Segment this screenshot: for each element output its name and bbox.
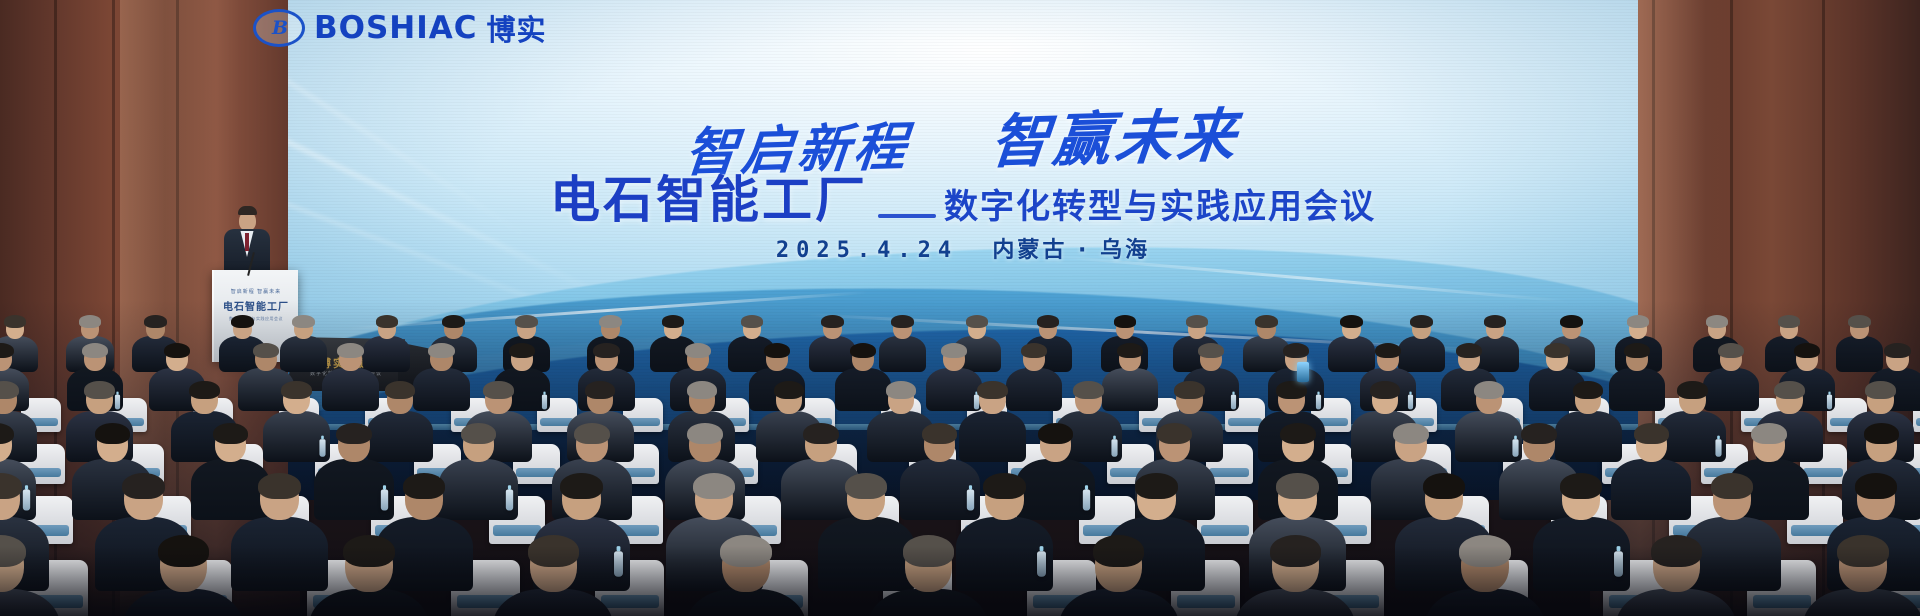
audience-head xyxy=(260,476,298,520)
audience-hair xyxy=(1711,473,1753,499)
audience-hair xyxy=(231,315,254,328)
audience-hair xyxy=(741,315,764,328)
water-bottle xyxy=(542,395,547,410)
audience-hair xyxy=(1560,473,1602,499)
screen-main-title: 电石智能工厂 xyxy=(550,160,868,232)
audience-head xyxy=(1200,346,1222,371)
audience-head xyxy=(847,476,885,520)
audience-hair xyxy=(1474,381,1504,399)
audience-head xyxy=(1780,318,1799,339)
audience-head xyxy=(1425,476,1463,520)
audience-hair xyxy=(983,473,1025,499)
audience-head xyxy=(1176,384,1202,414)
audience-hair xyxy=(764,343,790,358)
audience-hair xyxy=(1778,315,1801,328)
audience-head xyxy=(0,384,17,414)
audience-hair xyxy=(1157,423,1193,444)
podium-line-1: 智启新程 智赢未来 xyxy=(214,288,298,295)
audience-head xyxy=(1886,346,1908,371)
audience-head xyxy=(664,318,683,339)
audience-hair xyxy=(82,343,108,358)
logo-chinese-text: 博实 xyxy=(487,7,547,49)
audience-head xyxy=(766,346,788,371)
audience-hair xyxy=(1718,343,1744,358)
audience-head xyxy=(1546,346,1568,371)
audience-hair xyxy=(84,381,114,399)
audience-hair xyxy=(0,473,22,499)
audience-head xyxy=(146,318,165,339)
audience-head xyxy=(405,476,443,520)
audience-hair xyxy=(1393,423,1429,444)
audience-head xyxy=(1116,318,1135,339)
audience-head xyxy=(81,318,100,339)
audience-head xyxy=(1626,346,1648,371)
audience-head xyxy=(1075,384,1101,414)
audience-hair xyxy=(1021,343,1047,358)
audience-head xyxy=(562,476,600,520)
audience-head xyxy=(84,346,106,371)
audience-hair xyxy=(1677,381,1707,399)
audience-hair xyxy=(687,381,717,399)
audience-head xyxy=(97,426,129,462)
audience-hair xyxy=(336,423,372,444)
audience-head xyxy=(1342,318,1361,339)
audience-hair xyxy=(685,343,711,358)
audience-hair xyxy=(821,315,844,328)
audience-hair xyxy=(4,315,27,328)
audience-head xyxy=(1796,346,1818,371)
audience-hair xyxy=(1544,343,1570,358)
audience-head xyxy=(979,384,1005,414)
conference-photo: 智启新程 智赢未来 电石智能工厂 数字化转型与实践应用会议 2025.4.24 … xyxy=(0,0,1920,616)
speaker-hair xyxy=(238,206,257,215)
audience-head xyxy=(805,426,837,462)
audience-hair xyxy=(79,315,102,328)
audience-hair xyxy=(1794,343,1820,358)
audience-head xyxy=(985,476,1023,520)
audience-head xyxy=(1395,426,1427,462)
audience-head xyxy=(1486,318,1505,339)
audience-head xyxy=(1476,384,1502,414)
audience-hair xyxy=(687,423,723,444)
audience-hair xyxy=(1073,381,1103,399)
audience-head xyxy=(689,426,721,462)
audience-head xyxy=(1282,426,1314,462)
audience-head xyxy=(1257,318,1276,339)
audience-head xyxy=(823,318,842,339)
audience-head xyxy=(6,318,25,339)
audience-hair xyxy=(385,381,415,399)
audience-head xyxy=(191,384,217,414)
screen-date-row: 2025.4.24 内蒙古 · 乌海 xyxy=(288,232,1638,264)
audience-head xyxy=(743,318,762,339)
audience-head xyxy=(430,346,452,371)
audience-hair xyxy=(1456,343,1482,358)
audience-head xyxy=(1040,426,1072,462)
audience-head xyxy=(1562,318,1581,339)
audience-hair xyxy=(1624,343,1650,358)
audience-hair xyxy=(337,343,363,358)
water-bottle xyxy=(1112,439,1118,457)
audience-head xyxy=(1857,476,1895,520)
water-bottle xyxy=(1716,439,1722,457)
audience-hair xyxy=(1706,315,1729,328)
audience-hair xyxy=(1135,473,1177,499)
audience-head xyxy=(1039,318,1058,339)
audience-head xyxy=(1412,318,1431,339)
audience-hair xyxy=(922,423,958,444)
audience-head xyxy=(776,384,802,414)
audience-hair xyxy=(428,343,454,358)
attendee-phone xyxy=(1297,362,1309,382)
audience-hair xyxy=(1117,343,1143,358)
speaker-person xyxy=(224,206,270,277)
audience-head xyxy=(1523,426,1555,462)
audience-hair xyxy=(1038,423,1074,444)
audience-hair xyxy=(515,315,538,328)
audience-hair xyxy=(281,381,311,399)
audience-hair xyxy=(803,423,839,444)
audience-hair xyxy=(1521,423,1557,444)
audience-head xyxy=(1679,384,1705,414)
audience-hair xyxy=(977,381,1007,399)
water-bottle xyxy=(1083,490,1090,511)
audience-hair xyxy=(1276,473,1318,499)
audience-head xyxy=(1159,426,1191,462)
audience-hair xyxy=(213,423,249,444)
audience-hair xyxy=(599,315,622,328)
water-bottle xyxy=(506,490,513,511)
audience-head xyxy=(1776,384,1802,414)
audience-head xyxy=(1137,476,1175,520)
audience-head xyxy=(166,346,188,371)
audience-head xyxy=(1708,318,1727,339)
audience-head xyxy=(1023,346,1045,371)
audience-head xyxy=(339,346,361,371)
audience-head xyxy=(338,426,370,462)
audience-hair xyxy=(1423,473,1465,499)
audience-hair xyxy=(1865,381,1895,399)
audience-head xyxy=(695,476,733,520)
audience-head xyxy=(587,384,613,414)
audience-hair xyxy=(1410,315,1433,328)
audience-hair xyxy=(1751,423,1787,444)
water-bottle xyxy=(1231,395,1236,410)
audience-hair xyxy=(1864,423,1900,444)
audience-hair xyxy=(574,423,610,444)
logo-glyph: B xyxy=(272,17,286,39)
audience-head xyxy=(1119,346,1141,371)
audience-hair xyxy=(1560,315,1583,328)
audience-hair xyxy=(886,381,916,399)
audience-hair xyxy=(1255,315,1278,328)
event-date: 2025.4.24 xyxy=(776,238,958,263)
audience-hair xyxy=(258,473,300,499)
audience-head xyxy=(378,318,397,339)
audience-head xyxy=(387,384,413,414)
audience-hair xyxy=(0,343,14,358)
audience-hair xyxy=(1283,343,1309,358)
audience-hair xyxy=(253,343,279,358)
company-logo: B BOSHIAC 博实 xyxy=(253,7,547,49)
audience-head xyxy=(511,346,533,371)
audience-head xyxy=(255,346,277,371)
audience-head xyxy=(689,384,715,414)
audience-hair xyxy=(0,423,14,444)
audience-head xyxy=(124,476,162,520)
audience-hair xyxy=(593,343,619,358)
audience-head xyxy=(1372,384,1398,414)
audience-head xyxy=(283,384,309,414)
logo-latin-text: BOSHIAC xyxy=(314,10,478,46)
audience-hair xyxy=(941,343,967,358)
audience-hair xyxy=(509,343,535,358)
audience-head xyxy=(924,426,956,462)
audience-hair xyxy=(560,473,602,499)
audience-hair xyxy=(1174,381,1204,399)
audience-head xyxy=(687,346,709,371)
audience-hair xyxy=(483,381,513,399)
audience-head xyxy=(1377,346,1399,371)
audience-head xyxy=(888,384,914,414)
audience-head xyxy=(233,318,252,339)
audience-hair xyxy=(1370,381,1400,399)
audience-hair xyxy=(1774,381,1804,399)
audience-head xyxy=(601,318,620,339)
audience-hair xyxy=(95,423,131,444)
audience-head xyxy=(1575,384,1601,414)
audience-head xyxy=(943,346,965,371)
audience-head xyxy=(1713,476,1751,520)
audience-hair xyxy=(122,473,164,499)
boshiac-mark-icon: B xyxy=(253,9,305,47)
audience-hair xyxy=(442,315,465,328)
audience-hair xyxy=(1855,473,1897,499)
audience-hair xyxy=(1573,381,1603,399)
audience-head xyxy=(86,384,112,414)
audience-head xyxy=(968,318,987,339)
audience-hair xyxy=(1848,315,1871,328)
audience-head xyxy=(595,346,617,371)
audience-head xyxy=(1278,384,1304,414)
audience-head xyxy=(485,384,511,414)
audience-head xyxy=(1562,476,1600,520)
audience-head xyxy=(1867,384,1893,414)
audience-head xyxy=(1278,476,1316,520)
audience-hair xyxy=(461,423,497,444)
audience-hair xyxy=(850,343,876,358)
audience-head xyxy=(517,318,536,339)
audience-head xyxy=(215,426,247,462)
title-dash xyxy=(878,214,936,218)
audience-hair xyxy=(891,315,914,328)
speaker-tie xyxy=(245,233,249,251)
audience-hair xyxy=(0,381,19,399)
audience-head xyxy=(0,476,20,520)
screen-sub-title: 数字化转型与实践应用会议 xyxy=(944,179,1376,232)
event-location: 内蒙古 · 乌海 xyxy=(992,238,1150,263)
audience-hair xyxy=(1114,315,1137,328)
audience-hair xyxy=(376,315,399,328)
audience-head xyxy=(1458,346,1480,371)
audience-hair xyxy=(774,381,804,399)
audience-head xyxy=(294,318,313,339)
audience-hair xyxy=(164,343,190,358)
audience-hair xyxy=(189,381,219,399)
audience-head xyxy=(1188,318,1207,339)
audience-hair xyxy=(1634,423,1670,444)
audience-hair xyxy=(585,381,615,399)
audience-hair xyxy=(403,473,445,499)
audience-head xyxy=(1720,346,1742,371)
audience-hair xyxy=(1198,343,1224,358)
audience-hair xyxy=(1340,315,1363,328)
audience-head xyxy=(576,426,608,462)
audience-head xyxy=(463,426,495,462)
audience-hair xyxy=(1484,315,1507,328)
audience-head xyxy=(1629,318,1648,339)
audience-hair xyxy=(292,315,315,328)
water-bottle xyxy=(1827,395,1832,410)
audience-hair xyxy=(1884,343,1910,358)
audience-hair xyxy=(662,315,685,328)
audience-hair xyxy=(1276,381,1306,399)
audience-head xyxy=(852,346,874,371)
audience-head xyxy=(0,426,12,462)
audience-hair xyxy=(1375,343,1401,358)
audience-head xyxy=(1636,426,1668,462)
audience-head xyxy=(444,318,463,339)
audience-hair xyxy=(1037,315,1060,328)
audience-hair xyxy=(1280,423,1316,444)
audience-hair xyxy=(966,315,989,328)
audience-hair xyxy=(845,473,887,499)
audience-head xyxy=(1866,426,1898,462)
audience-hair xyxy=(1627,315,1650,328)
audience-hair xyxy=(1186,315,1209,328)
audience-head xyxy=(1753,426,1785,462)
audience-hair xyxy=(144,315,167,328)
audience-head xyxy=(1850,318,1869,339)
screen-title-row: 电石智能工厂 数字化转型与实践应用会议 xyxy=(288,160,1638,232)
audience-hair xyxy=(693,473,735,499)
foreground-shadow xyxy=(0,546,1920,616)
audience-head xyxy=(893,318,912,339)
